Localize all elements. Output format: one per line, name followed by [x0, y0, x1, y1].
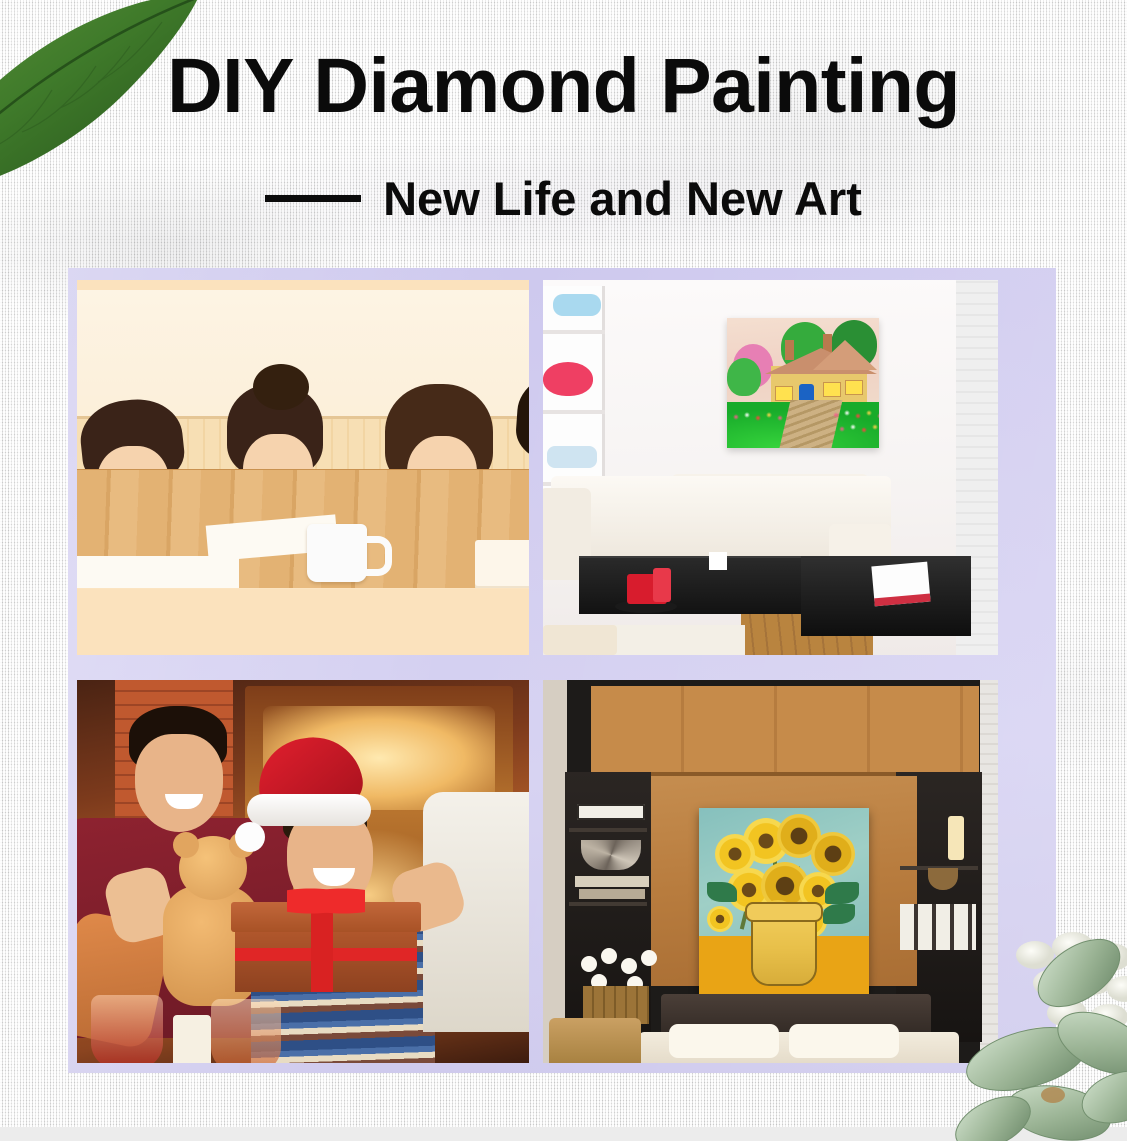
painting-window — [823, 382, 841, 397]
person-hair-bun — [253, 364, 309, 410]
floor-rug — [543, 625, 617, 655]
painting-sunflower — [811, 832, 855, 876]
painting-flowers — [831, 408, 879, 422]
white-candle — [173, 1015, 211, 1063]
succulent-icon — [907, 931, 1127, 1141]
decorative-bowl — [581, 840, 641, 870]
shelf-item — [547, 446, 597, 468]
photo-christmas-gift[interactable] — [77, 680, 529, 1063]
painting-flowers — [837, 422, 879, 436]
painting-flowers — [731, 410, 787, 424]
nightstand — [549, 1018, 641, 1063]
photo-friends-crafting[interactable] — [77, 280, 529, 655]
red-candle — [653, 568, 671, 602]
header: DIY Diamond Painting New Life and New Ar… — [0, 0, 1127, 272]
person-face — [135, 734, 223, 832]
santa-hat — [243, 738, 371, 842]
shelf-board — [569, 828, 647, 832]
book-stack — [579, 889, 645, 899]
painting-roof-gable — [813, 340, 877, 370]
black-coffee-table — [579, 558, 803, 614]
shelf-lamp — [948, 816, 964, 860]
santa-hat-brim — [247, 794, 371, 826]
magazine — [871, 562, 930, 607]
painting-leaf — [707, 882, 737, 902]
orchid-flower — [641, 950, 657, 966]
orchid-flower — [621, 958, 637, 974]
gift-box — [225, 902, 425, 998]
subtitle-row: New Life and New Art — [0, 175, 1127, 222]
painting-sunflower — [707, 906, 733, 932]
bed-pillow — [669, 1024, 779, 1058]
person-white-sweater — [413, 758, 529, 1028]
cottage-painting-artwork[interactable] — [727, 318, 879, 448]
page-subtitle: New Life and New Art — [383, 175, 862, 222]
drink-glass — [211, 999, 281, 1063]
teddy-ear — [173, 832, 199, 858]
letterbox-top — [77, 280, 529, 290]
photo1-scene — [77, 288, 529, 588]
painting-leaf — [823, 904, 855, 924]
photo-livingroom-cottage[interactable] — [543, 280, 998, 655]
painting-tree — [727, 358, 761, 396]
blue-towel — [553, 294, 601, 316]
letterbox-bottom — [77, 589, 529, 655]
page-title: DIY Diamond Painting — [0, 48, 1127, 125]
bed-pillow — [789, 1024, 899, 1058]
drink-glass — [91, 995, 163, 1063]
shelf-board — [543, 330, 605, 334]
orchid-flower — [581, 956, 597, 972]
gift-bow — [287, 886, 365, 916]
painting-vase-lip — [745, 902, 823, 922]
book-stack — [475, 540, 529, 586]
pink-cushion — [543, 362, 593, 396]
orchid-flower — [601, 948, 617, 964]
person-hair — [514, 368, 529, 468]
painting-window — [845, 380, 863, 395]
book-stack — [575, 876, 649, 887]
wall-side-panel — [543, 680, 567, 1063]
santa-hat-pompom — [235, 822, 265, 852]
shelf-board — [543, 410, 605, 414]
coffee-mug-handle — [363, 536, 392, 576]
sunflowers-painting-artwork[interactable] — [699, 808, 869, 994]
upper-wall-cabinets — [591, 686, 979, 776]
painting-window — [775, 386, 793, 401]
painting-leaf — [825, 882, 859, 904]
coffee-mug — [307, 524, 367, 582]
shelf-board — [569, 902, 647, 906]
vintage-typewriter — [577, 804, 645, 820]
subtitle-dash — [265, 195, 361, 202]
table-card — [709, 552, 727, 570]
